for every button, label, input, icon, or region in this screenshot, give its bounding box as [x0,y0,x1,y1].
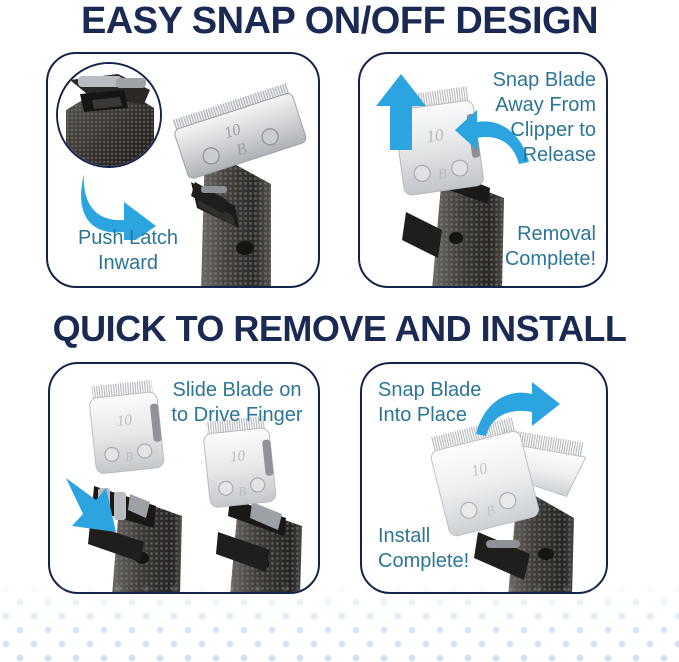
snap-away-caption: Snap Blade Away From Clipper to Release [436,68,596,168]
svg-text:10: 10 [116,412,133,430]
push-latch-caption: Push Latch Inward [52,226,204,276]
decorative-dot-pattern [0,582,679,662]
page-title-top: EASY SNAP ON/OFF DESIGN [0,2,679,40]
install-complete-caption: Install Complete! [378,524,548,574]
slide-blade-arrow-down-icon [60,476,122,538]
latch-closeup-image [58,64,160,166]
panel-push-latch: 10 B [46,52,320,288]
snap-away-arrow-up-icon [374,72,428,152]
slide-blade-caption: Slide Blade on to Drive Finger [154,378,320,428]
snap-place-caption: Snap Blade Into Place [378,378,548,428]
page-title-middle: QUICK TO REMOVE AND INSTALL [0,311,679,347]
svg-text:B: B [124,448,134,464]
latch-closeup-inset [56,62,162,168]
svg-text:B: B [237,483,247,499]
infographic-page: EASY SNAP ON/OFF DESIGN [0,0,679,662]
panel-snap-away: 10 B Snap Blade Away From Clipper to Rel… [358,52,608,288]
svg-text:10: 10 [229,448,246,466]
removal-complete-caption: Removal Complete! [436,222,596,272]
panel-slide-blade: 10 B [48,362,320,594]
panel-snap-place: 10 B Snap Blade Into Place Install Compl… [360,362,608,594]
blade-aligned-on-drive-finger-image: 10 B [190,416,316,594]
